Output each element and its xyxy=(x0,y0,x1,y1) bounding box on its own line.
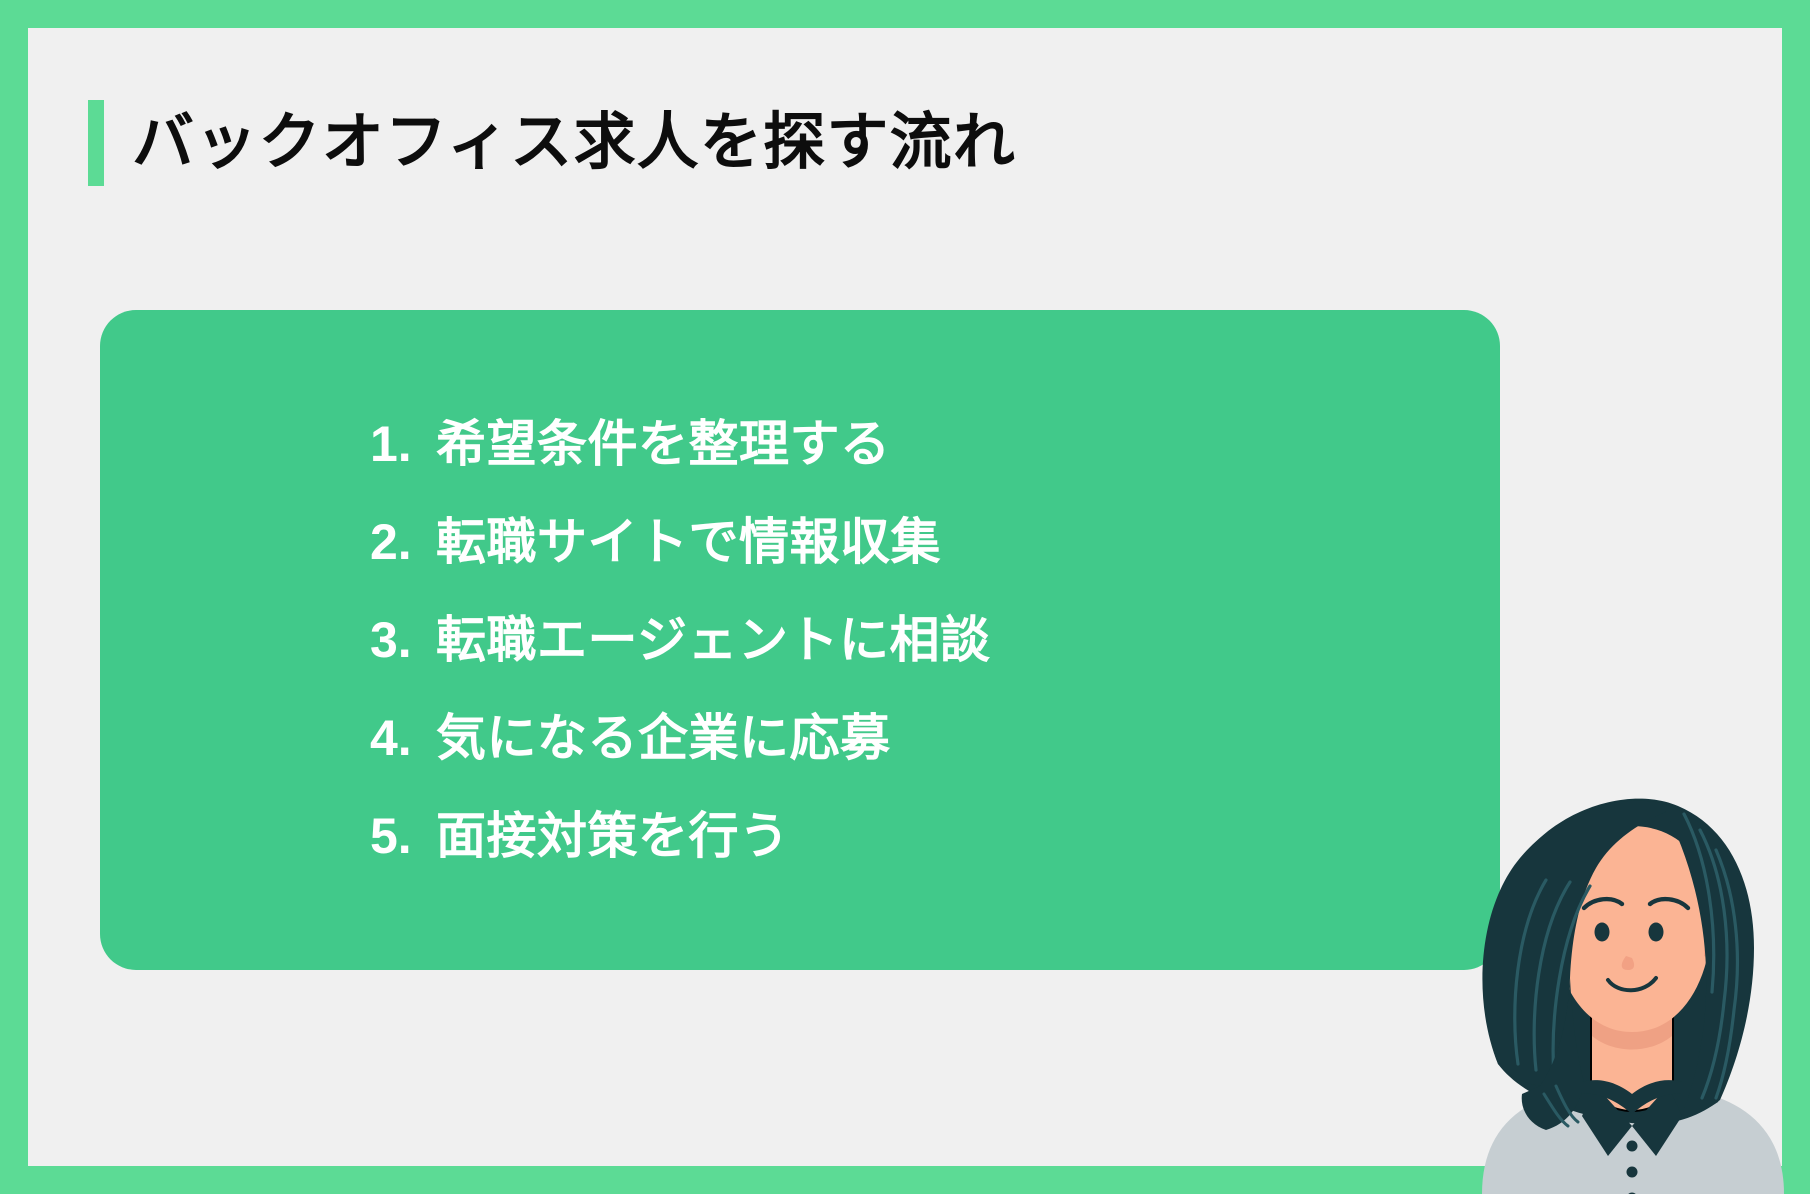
steps-list: 1. 希望条件を整理する 2. 転職サイトで情報収集 3. 転職エージェントに相… xyxy=(100,310,1500,970)
step-label: 気になる企業に応募 xyxy=(436,713,891,763)
step-label: 転職サイトで情報収集 xyxy=(436,517,941,567)
list-item: 5. 面接対策を行う xyxy=(370,811,790,861)
step-number: 4. xyxy=(370,713,436,763)
title-accent-bar xyxy=(88,100,104,186)
slide-root: バックオフィス求人を探す流れ 1. 希望条件を整理する 2. 転職サイトで情報収… xyxy=(0,0,1810,1194)
eye-left xyxy=(1595,923,1610,942)
woman-portrait-illustration xyxy=(1462,764,1802,1194)
page-title-text: バックオフィス求人を探す流れ xyxy=(132,112,1016,174)
list-item: 1. 希望条件を整理する xyxy=(370,419,891,469)
step-number: 2. xyxy=(370,517,436,567)
step-number: 5. xyxy=(370,811,436,861)
step-number: 1. xyxy=(370,419,436,469)
list-item: 3. 転職エージェントに相談 xyxy=(370,615,991,665)
eye-right xyxy=(1649,923,1664,942)
list-item: 4. 気になる企業に応募 xyxy=(370,713,891,763)
step-label: 面接対策を行う xyxy=(436,811,790,861)
steps-card: 1. 希望条件を整理する 2. 転職サイトで情報収集 3. 転職エージェントに相… xyxy=(100,310,1500,970)
step-label: 希望条件を整理する xyxy=(436,419,891,469)
step-label: 転職エージェントに相談 xyxy=(436,615,991,665)
page-title: バックオフィス求人を探す流れ xyxy=(88,100,1016,186)
list-item: 2. 転職サイトで情報収集 xyxy=(370,517,941,567)
step-number: 3. xyxy=(370,615,436,665)
